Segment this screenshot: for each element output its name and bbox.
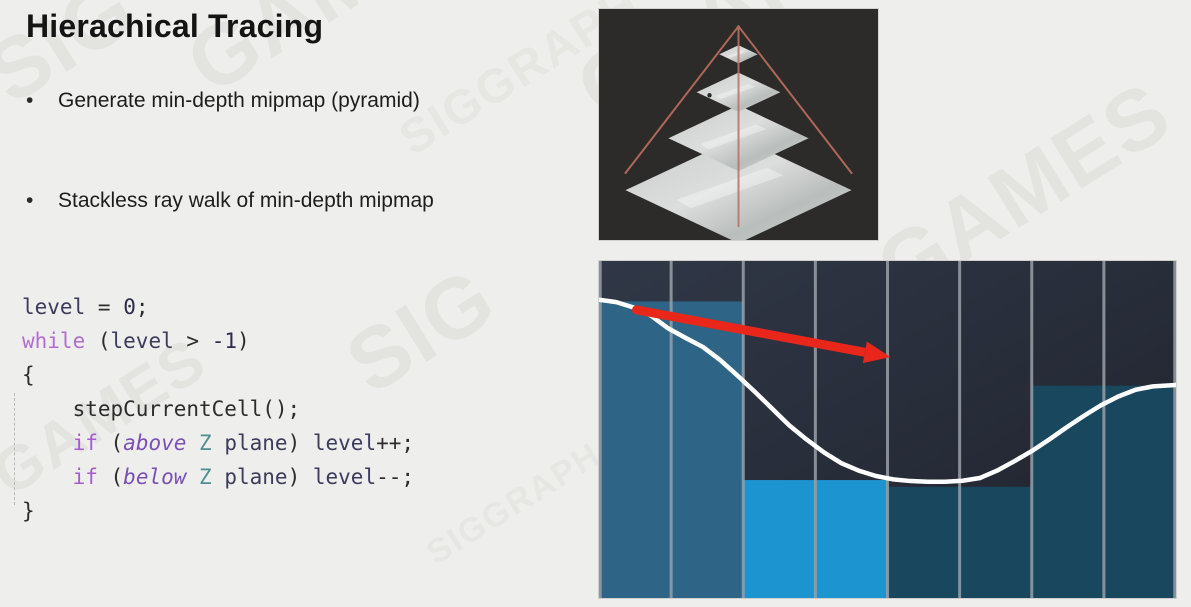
code-token xyxy=(186,431,199,455)
bullet-item: • Stackless ray walk of min-depth mipmap xyxy=(26,189,434,212)
code-token: ( xyxy=(98,431,123,455)
chart-bar xyxy=(671,301,743,598)
code-line: if (below Z plane) level--; xyxy=(22,460,414,494)
code-token: plane xyxy=(224,465,287,489)
pyramid-sample-dot xyxy=(707,93,711,97)
bullet-item: • Generate min-depth mipmap (pyramid) xyxy=(26,89,420,112)
code-token: below xyxy=(123,465,186,489)
ray-arrow-tail xyxy=(632,305,641,314)
code-token: -1 xyxy=(212,329,237,353)
code-line: } xyxy=(22,494,414,528)
code-token: 0 xyxy=(123,295,136,319)
code-token: stepCurrentCell xyxy=(73,397,263,421)
code-token xyxy=(22,431,73,455)
chart-bar xyxy=(743,480,815,598)
code-token xyxy=(199,329,212,353)
mipmap-pyramid-figure xyxy=(599,9,878,240)
pyramid-illustration xyxy=(599,9,878,240)
code-token: above xyxy=(123,431,186,455)
code-line: while (level > -1) xyxy=(22,324,414,358)
chart-bar xyxy=(888,487,960,598)
code-token: level xyxy=(313,465,376,489)
code-token: ( xyxy=(98,465,123,489)
page-title: Hierachical Tracing xyxy=(26,8,323,45)
code-token xyxy=(22,397,73,421)
code-token: ) xyxy=(288,431,313,455)
code-token: plane xyxy=(224,431,287,455)
code-token: ) xyxy=(237,329,250,353)
code-token: if xyxy=(73,465,98,489)
chart-bar xyxy=(960,487,1032,598)
heightfield-chart xyxy=(599,261,1176,598)
code-token: > xyxy=(186,329,199,353)
code-token: level xyxy=(22,295,85,319)
heightfield-chart-figure xyxy=(599,261,1176,598)
code-token: level xyxy=(313,431,376,455)
code-indent-guide xyxy=(14,393,15,505)
code-line: stepCurrentCell(); xyxy=(22,392,414,426)
watermark-text: SIGGRAPH xyxy=(420,435,608,573)
code-token: ) xyxy=(288,465,313,489)
bullet-text: Stackless ray walk of min-depth mipmap xyxy=(58,189,434,212)
code-token: ++; xyxy=(376,431,414,455)
code-token: Z xyxy=(199,465,212,489)
code-block: level = 0;while (level > -1){ stepCurren… xyxy=(22,290,414,528)
code-token: ; xyxy=(136,295,149,319)
chart-bar xyxy=(1032,386,1104,598)
code-token: if xyxy=(73,431,98,455)
code-token: { xyxy=(22,363,35,387)
code-token: Z xyxy=(199,431,212,455)
code-token xyxy=(212,431,225,455)
code-token: while xyxy=(22,329,85,353)
code-token: (); xyxy=(262,397,300,421)
code-line: if (above Z plane) level++; xyxy=(22,426,414,460)
code-token: level xyxy=(111,329,174,353)
code-token xyxy=(111,295,124,319)
code-line: { xyxy=(22,358,414,392)
slide-root: SIG GAMES SIG GRAPH GAMES GAMES SIGGRAPH… xyxy=(0,0,1191,607)
code-token xyxy=(174,329,187,353)
code-line: level = 0; xyxy=(22,290,414,324)
chart-bar xyxy=(599,301,671,598)
code-token: ( xyxy=(85,329,110,353)
code-token xyxy=(186,465,199,489)
code-token: } xyxy=(22,499,35,523)
code-token xyxy=(212,465,225,489)
bullet-text: Generate min-depth mipmap (pyramid) xyxy=(58,89,420,112)
code-token xyxy=(22,465,73,489)
bullet-marker-icon: • xyxy=(26,90,58,111)
code-token: = xyxy=(98,295,111,319)
chart-bar xyxy=(815,480,887,598)
code-token: --; xyxy=(376,465,414,489)
chart-bar xyxy=(1104,386,1176,598)
code-token xyxy=(85,295,98,319)
bullet-marker-icon: • xyxy=(26,190,58,211)
